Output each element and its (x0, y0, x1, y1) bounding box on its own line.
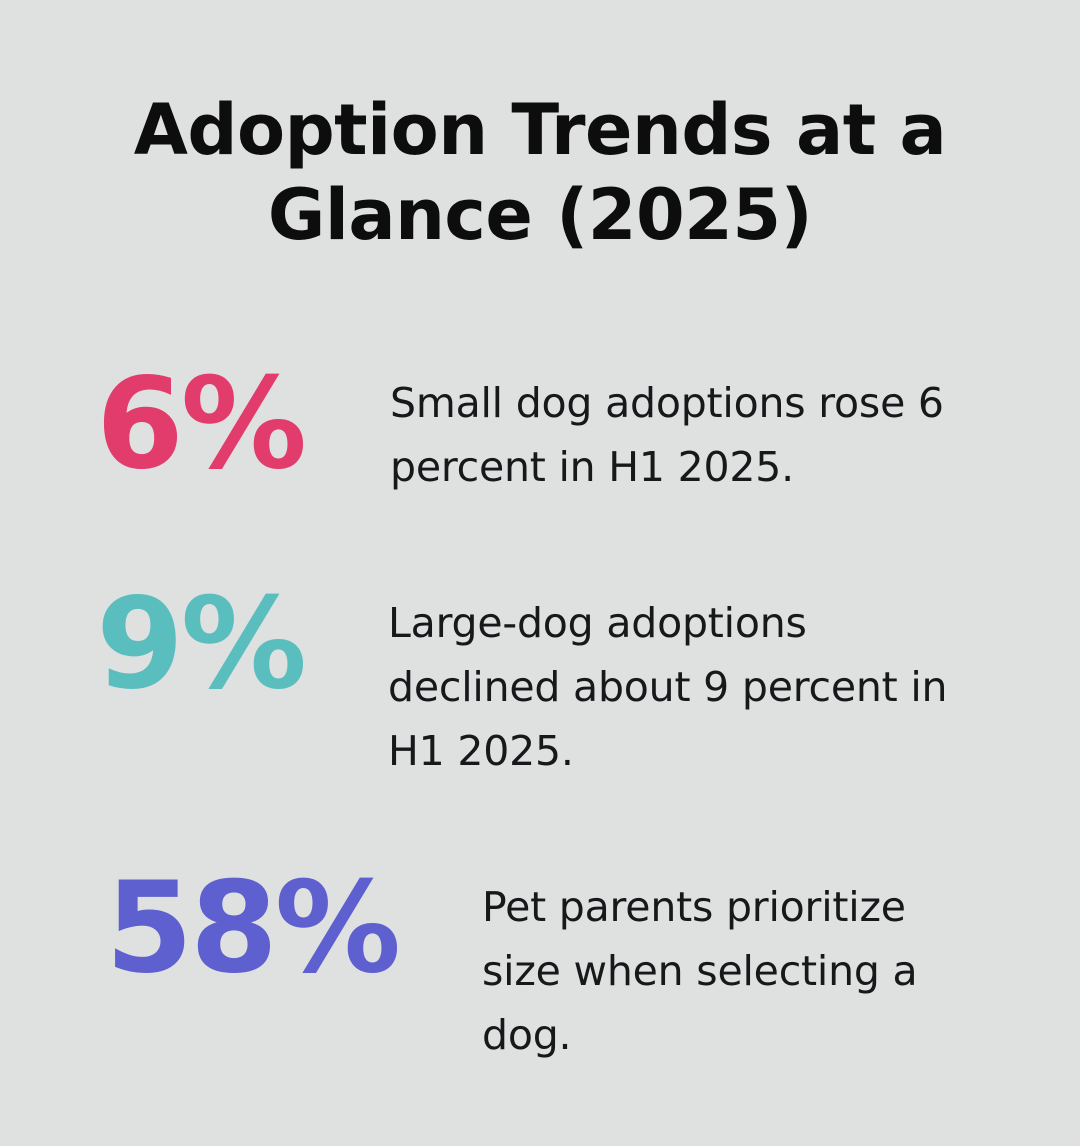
stat-row: 6% Small dog adoptions rose 6 percent in… (0, 372, 1080, 500)
stat-value: 58% (78, 864, 398, 993)
infographic-canvas: Adoption Trends at a Glance (2025) 6% Sm… (0, 0, 1080, 1146)
stats-list: 6% Small dog adoptions rose 6 percent in… (0, 372, 1080, 1068)
stat-value: 6% (78, 360, 304, 489)
stat-value: 9% (78, 580, 304, 709)
stat-description: Large-dog adoptions declined about 9 per… (388, 592, 990, 784)
stat-description: Pet parents prioritize size when selecti… (482, 876, 944, 1068)
stat-row: 58% Pet parents prioritize size when sel… (0, 876, 1080, 1068)
page-title-block: Adoption Trends at a Glance (2025) (0, 88, 1080, 259)
page-title: Adoption Trends at a Glance (2025) (110, 88, 970, 259)
stat-row: 9% Large-dog adoptions declined about 9 … (0, 592, 1080, 784)
stat-description: Small dog adoptions rose 6 percent in H1… (390, 372, 992, 500)
